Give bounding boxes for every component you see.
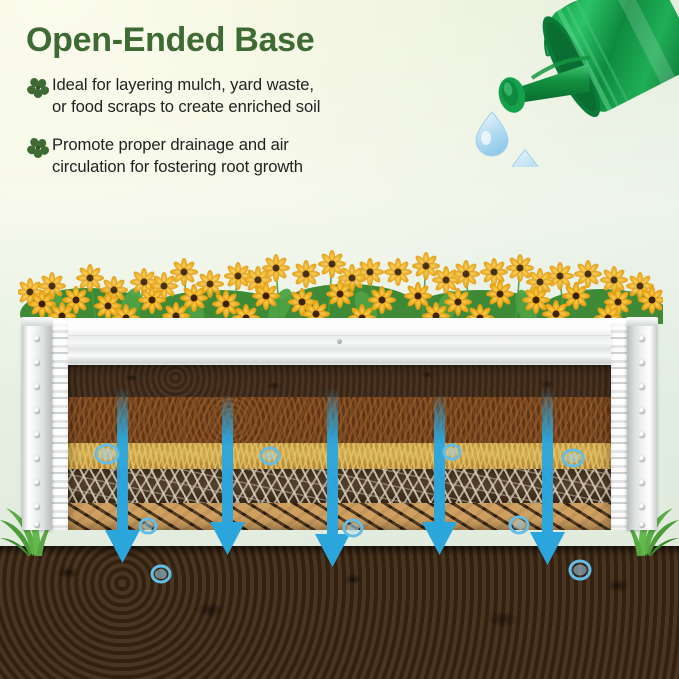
drainage-arrow [210, 394, 245, 555]
post-rivet [639, 360, 645, 366]
bullet-text-2: Promote proper drainage and air circulat… [52, 134, 303, 178]
water-droplet-ring-fill [100, 448, 587, 580]
page-title: Open-Ended Base [26, 22, 456, 58]
post-rivet [34, 360, 40, 366]
watering-can [470, 0, 679, 167]
headline-block: Open-Ended Base Ideal for layering mulch… [26, 22, 456, 194]
black-eyed-susan-flowers [18, 228, 663, 324]
rail-screw [337, 339, 342, 344]
drainage-arrows-overlay [0, 380, 679, 590]
post-rivet [34, 336, 40, 342]
water-droplet-ring [96, 445, 590, 582]
bed-top-rail [34, 318, 645, 365]
water-droplet [506, 150, 544, 167]
post-rivet [639, 336, 645, 342]
post-cap [21, 317, 53, 326]
infographic-canvas: Open-Ended Base Ideal for layering mulch… [0, 0, 679, 679]
bullet-item-2: Promote proper drainage and air circulat… [26, 134, 456, 178]
bullet-item-1: Ideal for layering mulch, yard waste, or… [26, 74, 456, 118]
post-cap [626, 317, 658, 326]
bullet-text-1: Ideal for layering mulch, yard waste, or… [52, 74, 320, 118]
drainage-arrow [530, 388, 565, 565]
drainage-arrow [315, 388, 350, 567]
clover-flower-icon [26, 77, 52, 99]
drainage-arrow [422, 394, 457, 555]
clover-flower-icon [26, 137, 52, 159]
drainage-arrow [105, 388, 140, 563]
water-droplet [476, 112, 508, 156]
